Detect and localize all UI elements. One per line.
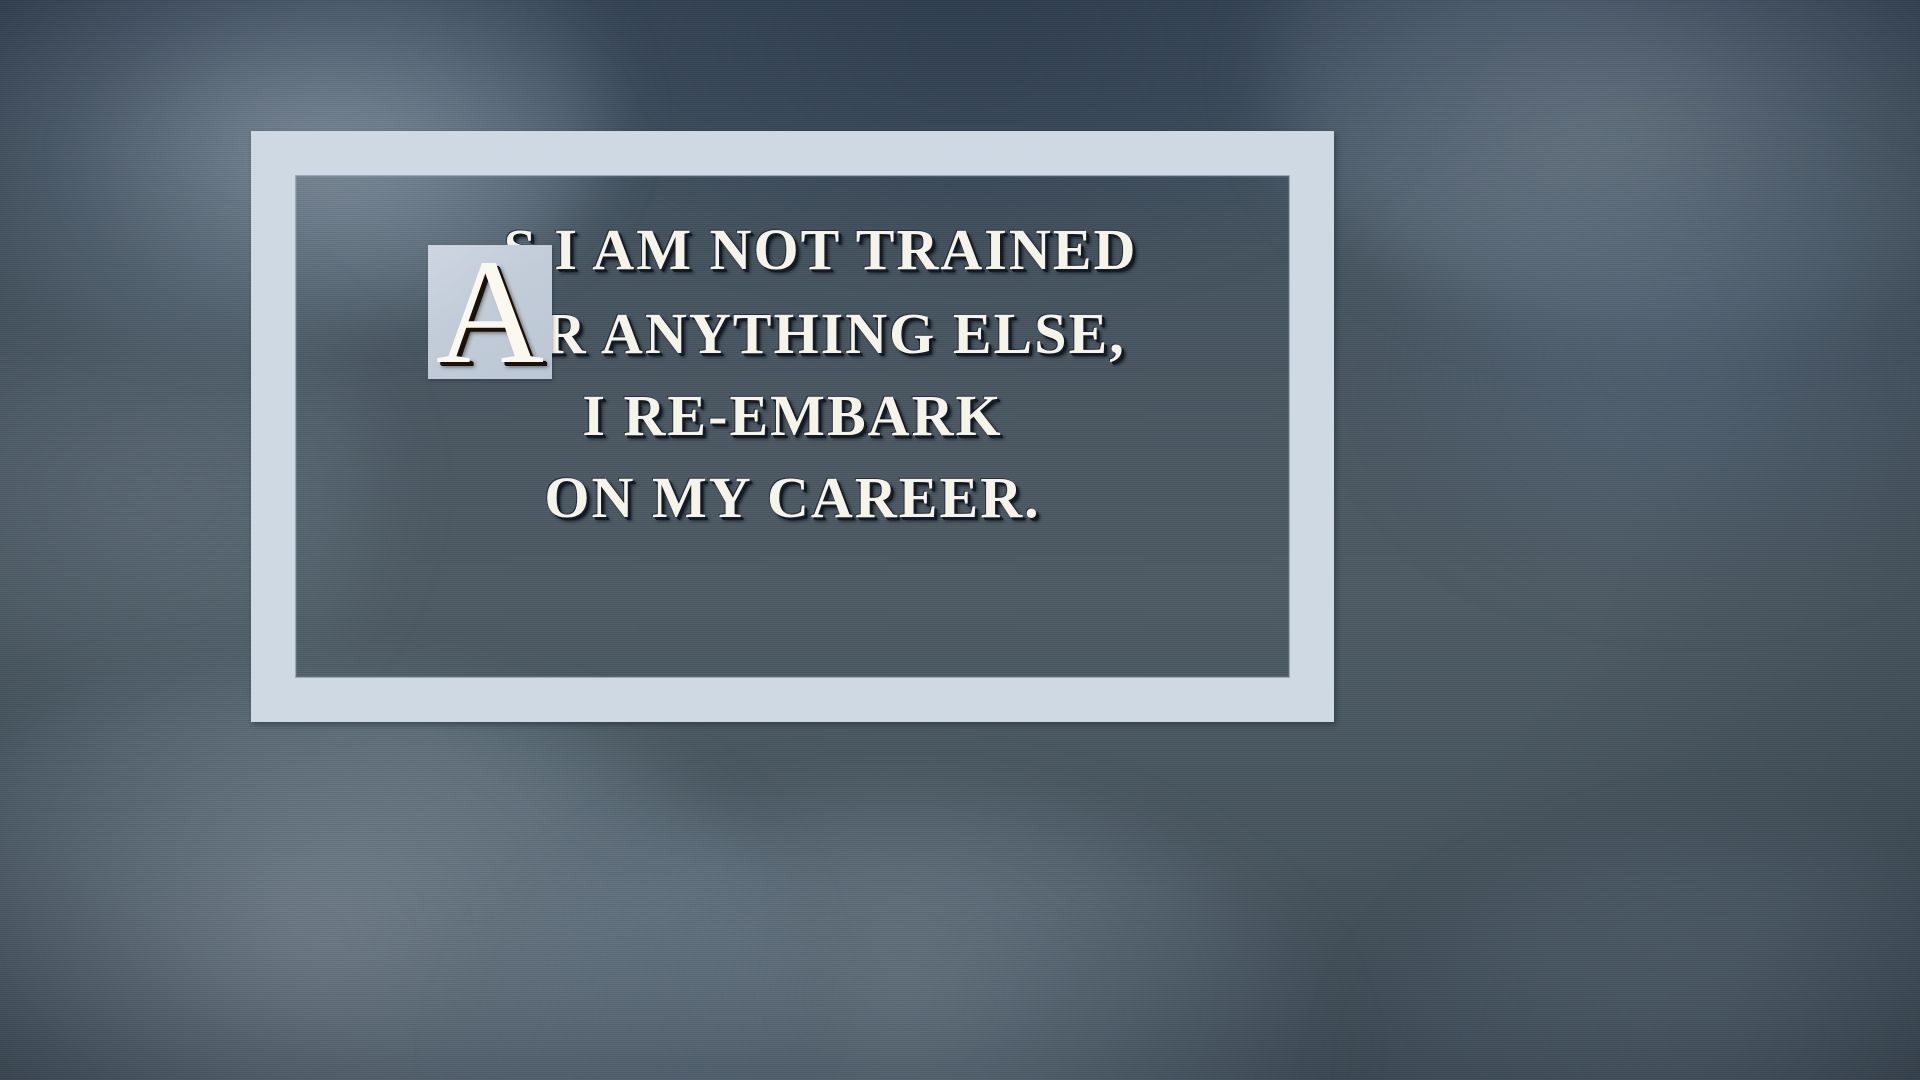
quote-line-2: FOR ANYTHING ELSE, bbox=[251, 302, 1334, 366]
drop-cap-letter: A bbox=[436, 237, 544, 387]
drop-cap-box: A bbox=[428, 245, 552, 379]
quote-text-block: S I AM NOT TRAINED FOR ANYTHING ELSE, I … bbox=[251, 218, 1334, 530]
title-card-stage: S I AM NOT TRAINED FOR ANYTHING ELSE, I … bbox=[0, 0, 1920, 1080]
quote-line-3: I RE-EMBARK bbox=[251, 384, 1334, 448]
quote-line-4: ON MY CAREER. bbox=[251, 466, 1334, 530]
